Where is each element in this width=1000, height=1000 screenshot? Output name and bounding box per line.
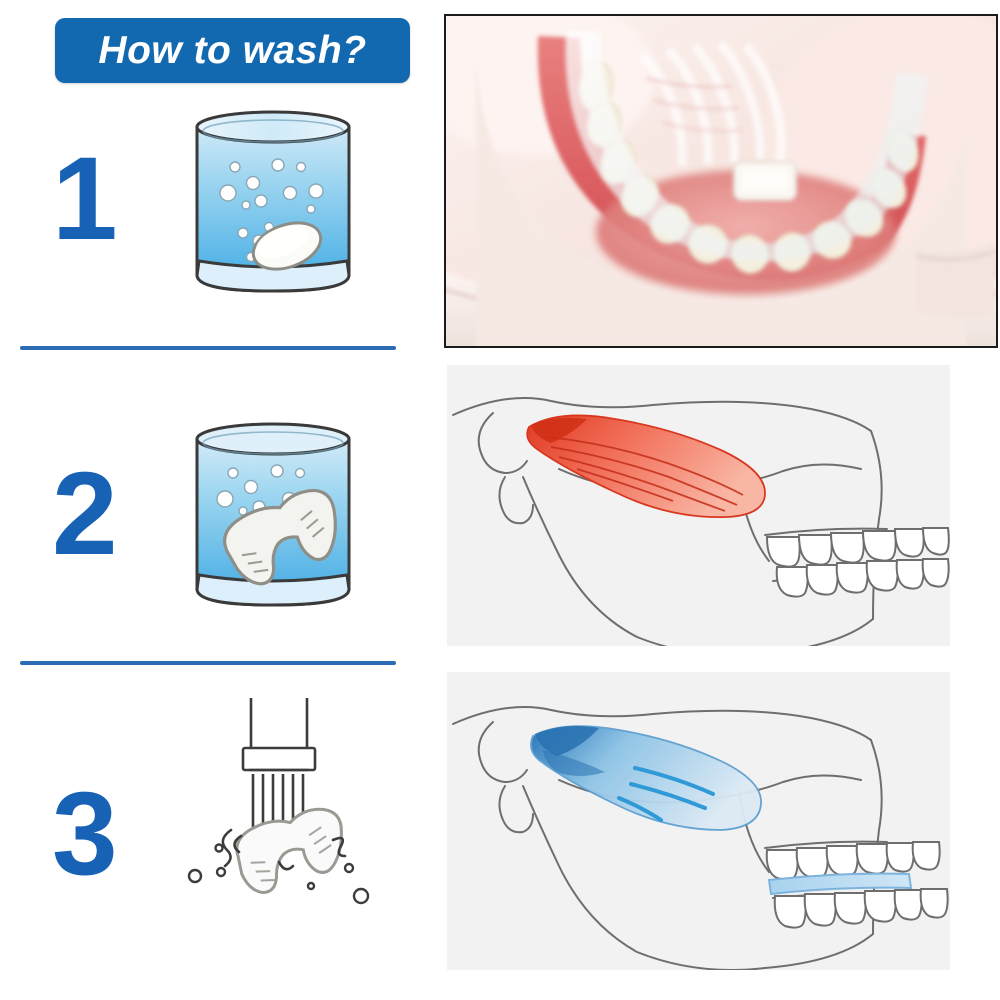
step-1-number: 1 [52,140,118,258]
how-to-wash-banner: How to wash? [55,18,410,83]
after-diagram [447,672,950,970]
product-benefit-column: Before After grind the teeth upper and l… [440,0,1000,1000]
step-2-number: 2 [52,455,118,573]
step-divider-1 [20,346,396,350]
step-divider-2 [20,661,396,665]
how-to-wash-column: How to wash? 1 [0,0,440,1000]
infographic-page: How to wash? 1 [0,0,1000,1000]
faucet-rinse-mouthguard-icon [183,690,398,920]
before-diagram [447,365,950,646]
glass-with-tablet-icon [183,105,363,305]
step-3-number: 3 [52,775,118,893]
dental-model-photo [444,14,998,348]
glass-with-mouthguard-icon [183,415,363,620]
banner-title: How to wash? [98,29,366,73]
